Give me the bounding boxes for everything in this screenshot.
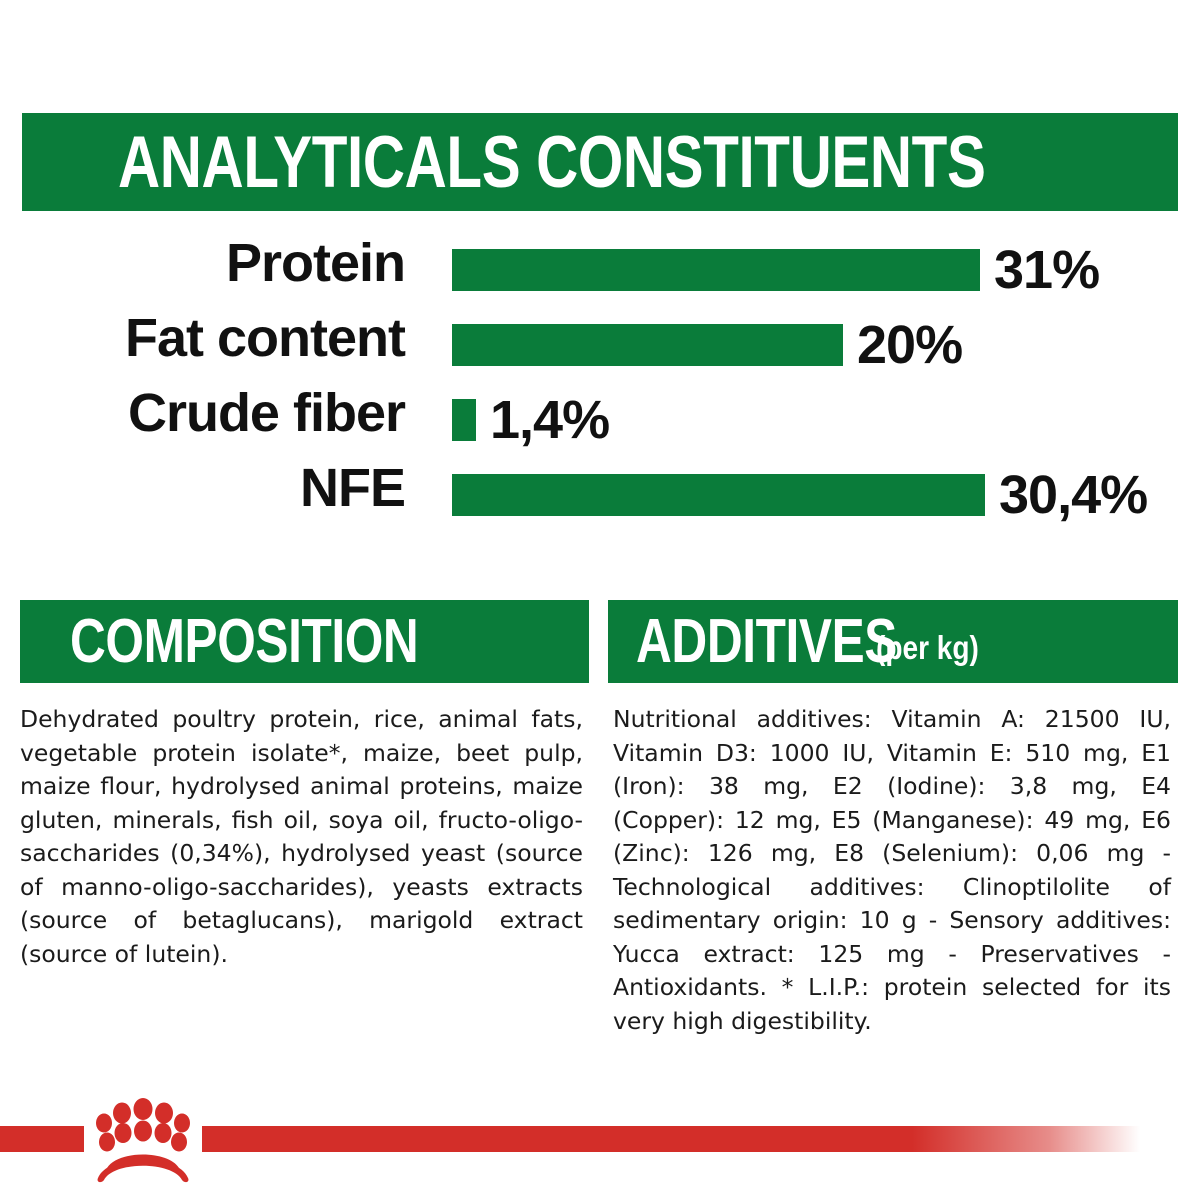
additives-title: ADDITIVES — [636, 611, 897, 673]
bar-value-protein: 31% — [994, 249, 1099, 291]
bar-label-protein: Protein — [0, 232, 405, 294]
bar-label-crude-fiber: Crude fiber — [0, 382, 405, 444]
additives-per-kg-label: (per kg) — [876, 629, 979, 669]
bar-label-nfe: NFE — [0, 457, 405, 519]
royal-canin-crown-icon — [78, 1098, 208, 1184]
bar-fill-fat-content — [452, 324, 843, 366]
bar-label-fat-content: Fat content — [0, 307, 405, 369]
additives-body-text: Nutritional additives: Vitamin A: 21500 … — [613, 703, 1171, 1038]
bar-fill-crude-fiber — [452, 399, 476, 441]
additives-banner: ADDITIVES (per kg) — [608, 600, 1178, 683]
bar-value-fat-content: 20% — [857, 324, 962, 366]
bar-value-nfe: 30,4% — [999, 474, 1147, 516]
bar-fill-nfe — [452, 474, 985, 516]
analyticals-bar-chart: Protein 31% Fat content 20% Crude fiber … — [0, 232, 1200, 532]
analyticals-constituents-banner: ANALYTICALS CONSTITUENTS — [22, 113, 1178, 211]
bar-track-fat-content: 20% — [452, 324, 1200, 366]
bar-track-nfe: 30,4% — [452, 474, 1200, 516]
bar-row-crude-fiber: Crude fiber 1,4% — [0, 382, 1200, 457]
bar-value-crude-fiber: 1,4% — [490, 399, 609, 441]
bar-fill-protein — [452, 249, 980, 291]
analyticals-constituents-title: ANALYTICALS CONSTITUENTS — [118, 126, 986, 199]
bar-row-protein: Protein 31% — [0, 232, 1200, 307]
bar-row-fat-content: Fat content 20% — [0, 307, 1200, 382]
bar-track-protein: 31% — [452, 249, 1200, 291]
composition-banner: COMPOSITION — [20, 600, 589, 683]
composition-title: COMPOSITION — [70, 611, 418, 673]
composition-body-text: Dehydrated poultry protein, rice, animal… — [20, 703, 583, 971]
bar-row-nfe: NFE 30,4% — [0, 457, 1200, 532]
bar-track-crude-fiber: 1,4% — [452, 399, 1200, 441]
